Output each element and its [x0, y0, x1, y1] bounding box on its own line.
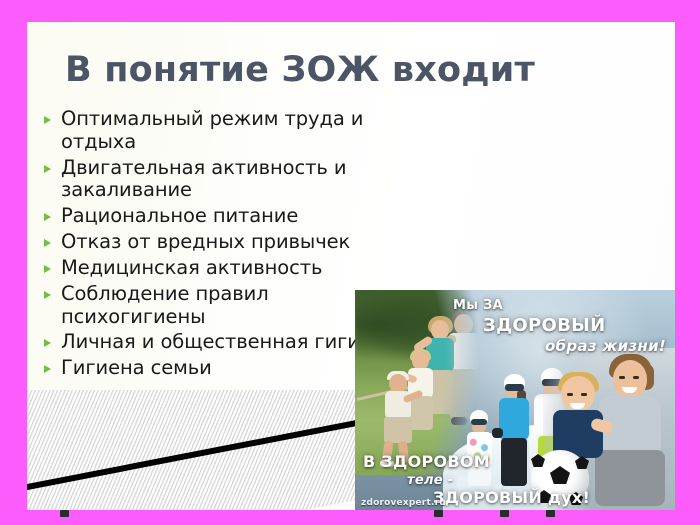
healthy-lifestyle-photo: Мы ЗА ЗДОРОВЫЙ образ жизни! В ЗДОРОВОМ т… [355, 290, 675, 510]
bullet-arrow-icon [44, 116, 51, 124]
list-item: Медицинская активность [39, 257, 399, 280]
bullet-arrow-icon [44, 239, 51, 247]
bottom-edge-mark [434, 510, 443, 517]
bullet-arrow-icon [44, 213, 51, 221]
photo-overlay-line-1: Мы ЗА [453, 298, 503, 313]
bottom-edge-mark [60, 510, 69, 517]
list-item: Гигиена семьи [39, 357, 399, 380]
list-item-label: Соблюдение правил психогигиены [61, 282, 269, 328]
list-item: Отказ от вредных привычек [39, 231, 399, 254]
bullet-arrow-icon [44, 291, 51, 299]
list-item-label: Оптимальный режим труда и отдыха [61, 107, 363, 153]
photo-overlay-line-6: ЗДОРОВЫЙ дух! [433, 488, 590, 507]
slide-canvas: В понятие ЗОЖ входит Оптимальный режим т… [0, 0, 700, 525]
photo-overlay-line-3: образ жизни! [545, 337, 666, 355]
list-item: Рациональное питание [39, 205, 399, 228]
list-item-label: Отказ от вредных привычек [61, 230, 350, 253]
page-title: В понятие ЗОЖ входит [65, 52, 605, 89]
bullet-arrow-icon [44, 365, 51, 373]
bullet-arrow-icon [44, 339, 51, 347]
bottom-edge-mark [546, 510, 555, 517]
slide-panel: В понятие ЗОЖ входит Оптимальный режим т… [27, 22, 675, 510]
skier-child [463, 410, 497, 488]
photo-overlay-line-2: ЗДОРОВЫЙ [483, 315, 605, 336]
list-item-label: Рациональное питание [61, 204, 298, 227]
bullet-arrow-icon [44, 265, 51, 273]
list-item-label: Личная и общественная гигиена [61, 330, 396, 353]
list-item-label: Гигиена семьи [61, 356, 212, 379]
photo-watermark: zdorovexpert.ru [361, 498, 446, 508]
list-item: Двигательная активность и закаливание [39, 157, 399, 203]
skier-blue-jacket [495, 374, 535, 492]
bullet-list: Оптимальный режим труда и отдыха Двигате… [39, 108, 399, 383]
list-item: Личная и общественная гигиена [39, 331, 399, 354]
photo-overlay-line-4: В ЗДОРОВОМ [363, 452, 490, 471]
list-item-label: Двигательная активность и закаливание [61, 156, 346, 202]
list-item-label: Медицинская активность [61, 256, 322, 279]
photo-overlay-line-5: теле - [407, 473, 453, 488]
list-item: Соблюдение правил психогигиены [39, 283, 399, 329]
bullet-arrow-icon [44, 165, 51, 173]
list-item: Оптимальный режим труда и отдыха [39, 108, 399, 154]
bottom-edge-mark [500, 510, 509, 517]
